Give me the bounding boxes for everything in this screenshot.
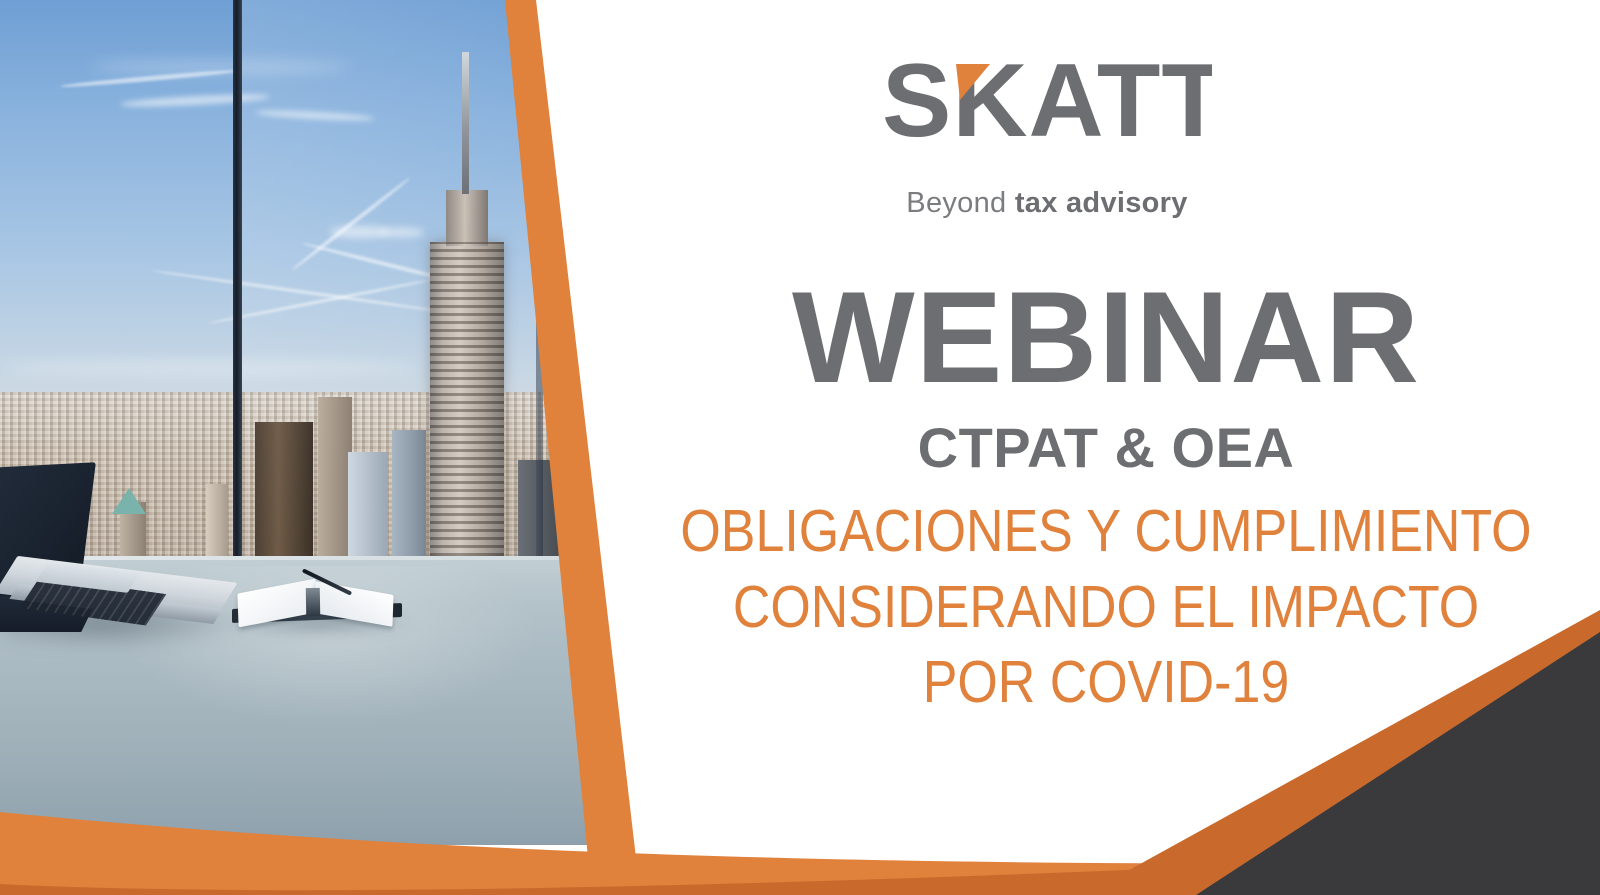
description-line-2: CONSIDERANDO EL IMPACTO	[671, 570, 1540, 646]
notebook-spine	[306, 588, 320, 616]
content-panel: SKATT Beyond tax advisory WEBINAR CTPAT …	[612, 0, 1600, 895]
logo-wordmark: SKATT	[882, 48, 1212, 175]
description-line-3: POR COVID-19	[671, 645, 1540, 721]
tagline-light: Beyond	[906, 187, 1006, 219]
webinar-slide: SKATT Beyond tax advisory WEBINAR CTPAT …	[0, 0, 1600, 895]
green-roof-building	[112, 488, 146, 514]
building	[566, 404, 592, 572]
window-mullion	[233, 0, 242, 565]
desk-edge-highlight	[0, 556, 640, 560]
window-glass-reflection	[242, 0, 542, 565]
description-block: OBLIGACIONES Y CUMPLIMIENTO CONSIDERANDO…	[671, 494, 1540, 721]
description-line-1: OBLIGACIONES Y CUMPLIMIENTO	[671, 494, 1540, 570]
hero-photo	[0, 0, 640, 860]
page-subtitle: CTPAT & OEA	[612, 420, 1600, 476]
logo-letters: SKATT	[882, 48, 1212, 158]
brand-logo: SKATT Beyond tax advisory	[882, 48, 1212, 220]
tagline-bold: tax advisory	[1015, 187, 1188, 219]
skatt-logo-svg: SKATT	[882, 48, 1212, 158]
brand-tagline: Beyond tax advisory	[882, 187, 1212, 220]
window-mullion	[536, 0, 543, 560]
page-title: WEBINAR	[612, 272, 1600, 402]
